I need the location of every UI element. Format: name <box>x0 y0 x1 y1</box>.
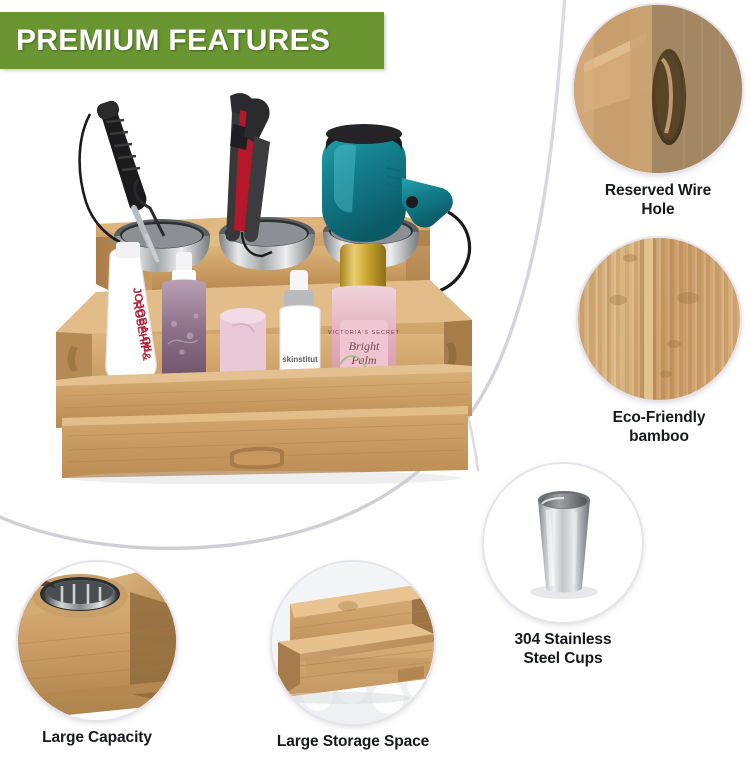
steel-cup-detail <box>484 464 642 622</box>
caption-line-1: Large Storage Space <box>272 733 434 752</box>
caption-line-1: Large Capacity <box>18 729 176 748</box>
eco-friendly-bamboo-image <box>578 238 740 400</box>
large-capacity-caption: Large Capacity <box>18 729 176 748</box>
infographic-page: PREMIUM FEATURES <box>0 0 750 768</box>
reserved-wire-hole-image <box>574 5 742 173</box>
hero-product-illustration: ROSEHIP& JOJOBA OIL <box>34 84 494 484</box>
premium-features-banner: PREMIUM FEATURES <box>0 12 384 69</box>
callout-large-capacity: Large Capacity <box>18 562 176 748</box>
caption-line-2: Hole <box>574 201 742 220</box>
eco-friendly-bamboo-caption: Eco-Friendly bamboo <box>578 409 740 447</box>
svg-text:VICTORIA'S SECRET: VICTORIA'S SECRET <box>328 330 400 336</box>
callout-reserved-wire-hole: Reserved Wire Hole <box>574 5 742 220</box>
caption-line-1: 304 Stainless <box>484 631 642 650</box>
large-storage-space-caption: Large Storage Space <box>272 733 434 752</box>
large-capacity-detail <box>18 562 176 720</box>
caption-line-1: Reserved Wire <box>574 182 742 201</box>
wire-hole-detail <box>574 5 742 173</box>
bamboo-plank-detail <box>578 238 740 400</box>
svg-text:Bright: Bright <box>349 339 380 353</box>
callout-large-storage-space: Large Storage Space <box>272 562 434 752</box>
large-capacity-image <box>18 562 176 720</box>
stainless-steel-cup-image <box>484 464 642 622</box>
svg-text:skinstitut: skinstitut <box>282 355 318 364</box>
callout-stainless-steel-cups: 304 Stainless Steel Cups <box>484 464 642 669</box>
caption-line-2: Steel Cups <box>484 650 642 669</box>
callout-eco-friendly-bamboo: Eco-Friendly bamboo <box>578 238 740 447</box>
stainless-steel-cups-caption: 304 Stainless Steel Cups <box>484 631 642 669</box>
caption-line-2: bamboo <box>578 428 740 447</box>
storage-drawer-detail <box>272 562 434 724</box>
caption-line-1: Eco-Friendly <box>578 409 740 428</box>
banner-title: PREMIUM FEATURES <box>0 24 330 58</box>
hero-product-image: ROSEHIP& JOJOBA OIL <box>34 84 494 484</box>
jar-pink-round <box>220 308 266 378</box>
reserved-wire-hole-caption: Reserved Wire Hole <box>574 182 742 220</box>
large-storage-space-image <box>272 562 434 724</box>
